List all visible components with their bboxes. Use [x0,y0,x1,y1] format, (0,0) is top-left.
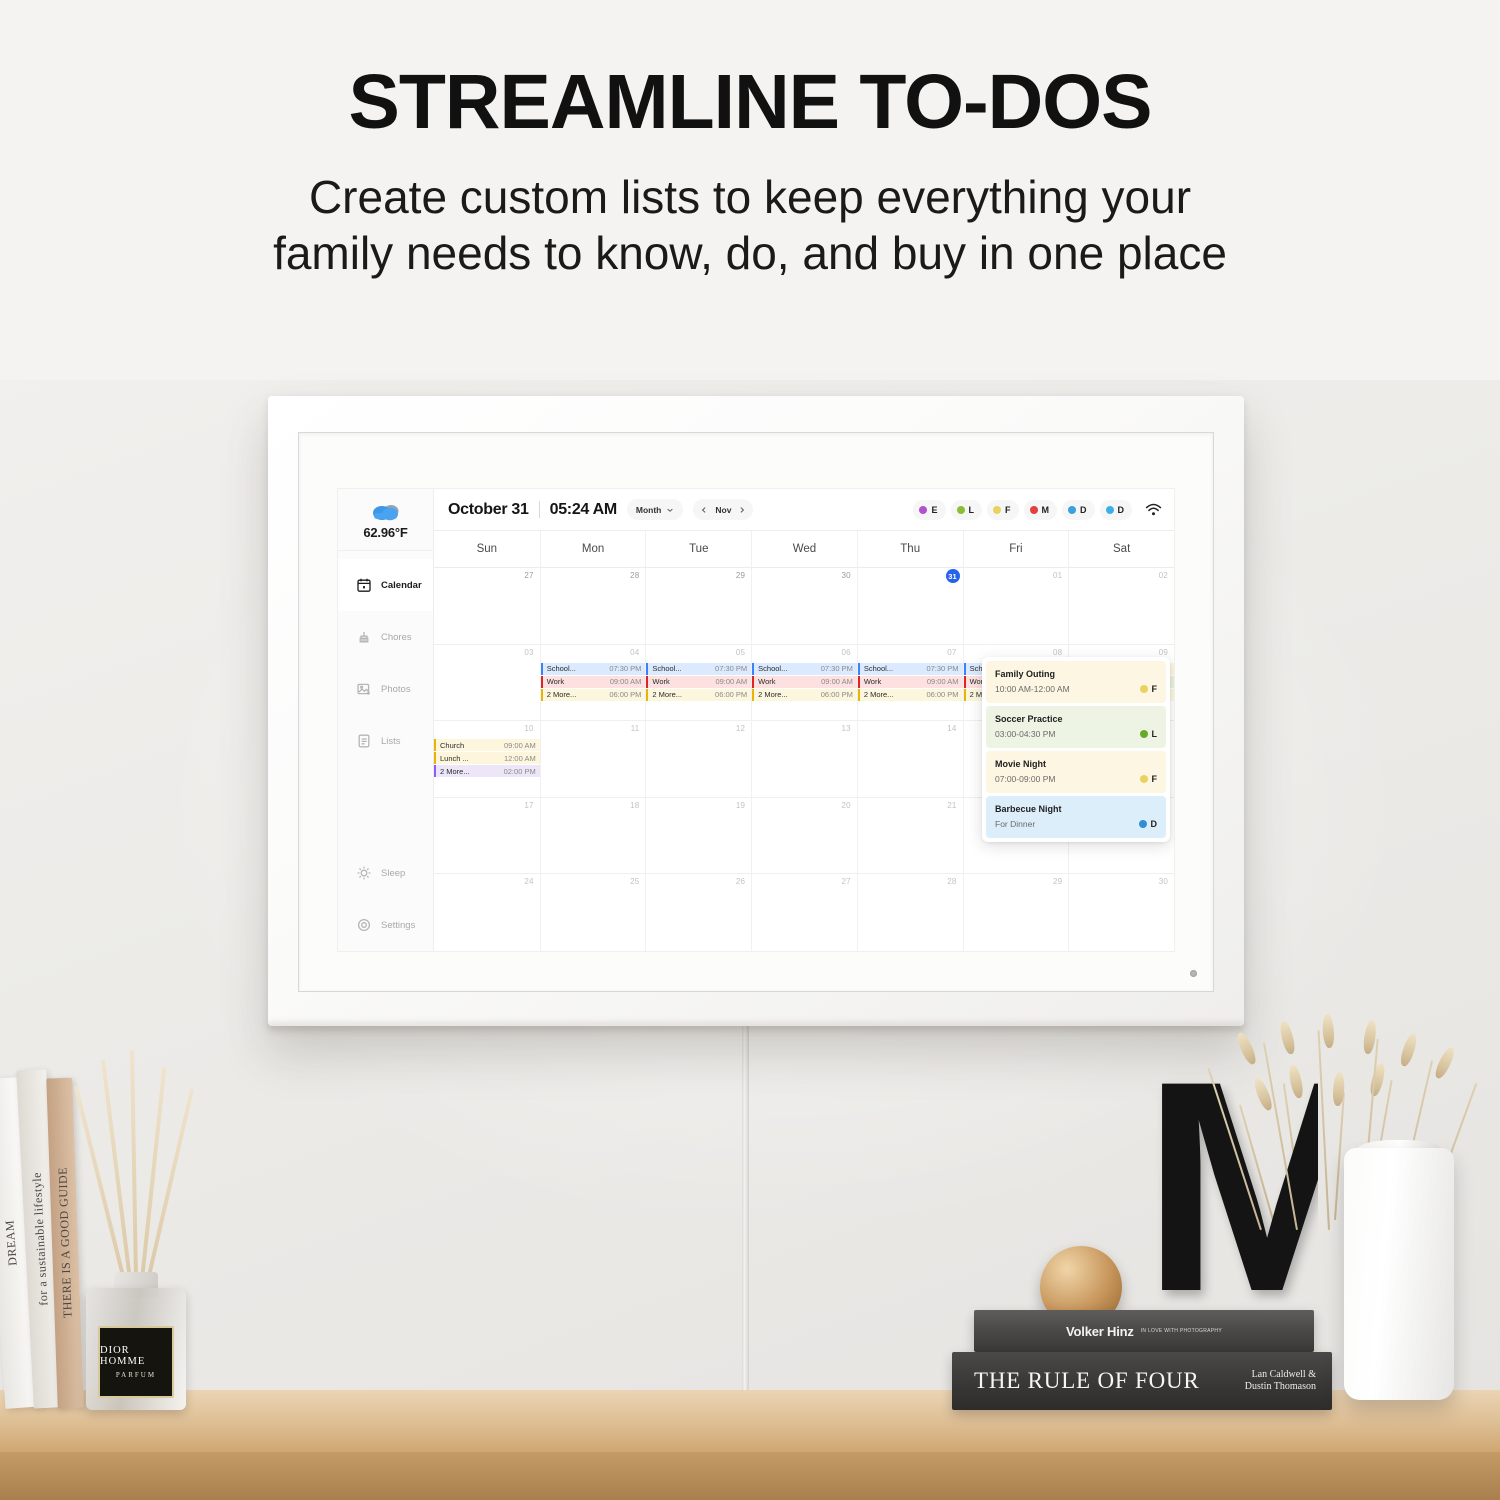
reed-diffuser: DIOR HOMME PARFUM [78,1230,196,1410]
event-title: 2 More... [543,690,607,699]
event-detail-time: For Dinner [995,819,1035,829]
event-detail-title: Family Outing [995,669,1157,679]
calendar-day-cell[interactable]: 14 [857,721,963,797]
event-title: Work [543,677,607,686]
day-number: 17 [524,801,533,810]
diffuser-label: DIOR HOMME PARFUM [98,1326,174,1398]
calendar-day-cell[interactable]: 20 [751,798,857,874]
chevron-right-icon[interactable] [738,506,746,514]
calendar-event[interactable]: School...07:30 PM [646,663,751,675]
event-detail-time: 03:00-04:30 PM [995,729,1055,739]
calendar-day-cell[interactable]: 11 [540,721,646,797]
promo-subtitle-line-1: Create custom lists to keep everything y… [273,169,1227,225]
day-number: 27 [524,571,533,580]
calendar-event[interactable]: School...07:30 PM [752,663,857,675]
event-detail-card[interactable]: Movie Night07:00-09:00 PMF [986,751,1166,793]
promo-subtitle: Create custom lists to keep everything y… [273,169,1227,281]
calendar-day-cell[interactable]: 27 [434,568,540,644]
event-detail-title: Barbecue Night [995,804,1157,814]
calendar-event[interactable]: 2 More...06:00 PM [646,689,751,701]
member-initial: D [1118,505,1125,515]
weekday-mon: Mon [540,531,646,567]
event-detail-row: For DinnerD [995,819,1157,829]
event-detail-card[interactable]: Soccer Practice03:00-04:30 PML [986,706,1166,748]
event-title: School... [860,664,924,673]
calendar-event[interactable]: Work09:00 AM [858,676,963,688]
sidebar-nav: Calendar Chores Photos [338,551,433,951]
member-color-dot [1140,730,1148,738]
member-color-dot [1106,506,1114,514]
event-title: Work [860,677,924,686]
sidebar-item-photos[interactable]: Photos [338,663,433,715]
day-number: 26 [736,877,745,886]
calendar-day-cell[interactable]: 10Church09:00 AMLunch ...12:00 AM2 More.… [434,721,540,797]
pampas-plume [1235,1031,1259,1067]
event-detail-member: F [1140,774,1158,784]
day-number: 14 [947,724,956,733]
view-selector-label: Month [636,505,662,515]
topbar-divider [539,501,540,518]
day-number: 27 [842,877,851,886]
day-number: 10 [524,724,533,733]
page-title: STREAMLINE TO-DOS [349,62,1152,143]
weekday-tue: Tue [645,531,751,567]
event-time: 09:00 AM [924,677,959,686]
diffuser-brand: DIOR HOMME [100,1345,172,1367]
member-color-dot [1068,506,1076,514]
event-detail-title: Soccer Practice [995,714,1157,724]
event-time: 06:00 PM [606,690,641,699]
member-initial: L [1152,729,1158,739]
calendar-week-row: 27282930310102 [434,568,1174,645]
calendar-event[interactable]: 2 More...06:00 PM [752,689,857,701]
member-chip-d2[interactable]: D [1100,500,1133,520]
calendar-week-row: 24252627282930 [434,874,1174,951]
event-title: School... [754,664,818,673]
event-detail-member: L [1140,729,1158,739]
calendar-icon [356,577,372,593]
smart-display-frame: 62.96°F Calendar Chores [268,396,1244,1026]
calendar-event[interactable]: School...07:30 PM [858,663,963,675]
day-number: 07 [947,648,956,657]
day-number: 11 [631,724,640,733]
calendar-day-cell[interactable]: 12 [645,721,751,797]
event-detail-row: 07:00-09:00 PMF [995,774,1157,784]
calendar-day-cell[interactable]: 30 [1068,874,1174,951]
member-initial: E [931,505,937,515]
weekday-sat: Sat [1068,531,1174,567]
list-icon [356,733,372,749]
member-initial: F [1005,505,1011,515]
day-number: 29 [1053,877,1062,886]
member-chip-d1[interactable]: D [1062,500,1095,520]
calendar-day-cell[interactable]: 06School...07:30 PMWork09:00 AM2 More...… [751,645,857,721]
wifi-icon[interactable] [1145,503,1162,517]
weekday-wed: Wed [751,531,857,567]
event-time: 07:30 PM [606,664,641,673]
pampas-stem [1318,1030,1330,1230]
day-event-list: School...07:30 PMWork09:00 AM2 More...06… [858,663,963,701]
calendar-day-cell[interactable]: 31 [857,568,963,644]
member-color-dot [993,506,1001,514]
pampas-plume [1398,1032,1419,1068]
gear-icon [356,917,372,933]
day-number: 03 [524,648,533,657]
day-number: 06 [842,648,851,657]
day-number: 13 [842,724,851,733]
book-subtitle-top: IN LOVE WITH PHOTOGRAPHY [1141,1328,1222,1334]
sidebar: 62.96°F Calendar Chores [338,489,434,951]
member-initial: D [1080,505,1087,515]
sidebar-item-label-calendar: Calendar [381,580,422,591]
calendar-day-cell[interactable]: 04School...07:30 PMWork09:00 AM2 More...… [540,645,646,721]
book-authors-bottom: Lan Caldwell & Dustin Thomason [1245,1369,1316,1394]
member-chip-e[interactable]: E [913,500,945,520]
calendar-day-cell[interactable]: 27 [751,874,857,951]
day-number: 20 [842,801,851,810]
member-color-dot [1030,506,1038,514]
sidebar-item-label-chores: Chores [381,632,412,643]
calendar-event[interactable]: Lunch ...12:00 AM [434,752,540,764]
cloud-icon [370,500,402,522]
day-number: 12 [736,724,745,733]
decor-vase [1344,1148,1454,1400]
member-initial: M [1042,505,1050,515]
weather-temperature: 62.96°F [363,525,407,540]
member-initial: D [1151,819,1158,829]
event-time: 07:30 PM [923,664,958,673]
day-number: 30 [842,571,851,580]
power-indicator-icon [1190,970,1197,977]
calendar-day-cell[interactable]: 30 [751,568,857,644]
event-time: 12:00 AM [501,754,536,763]
event-detail-time: 10:00 AM-12:00 AM [995,684,1070,694]
calendar-day-cell[interactable]: 25 [540,874,646,951]
member-chip-l[interactable]: L [951,500,983,520]
event-time: 09:00 AM [712,677,747,686]
calendar-event[interactable]: Work09:00 AM [752,676,857,688]
member-color-dot [919,506,927,514]
calendar-event[interactable]: Church09:00 AM [434,739,540,751]
event-title: 2 More... [754,690,818,699]
calendar-day-cell[interactable]: 03 [434,645,540,721]
diffuser-sub: PARFUM [116,1371,156,1379]
day-number: 02 [1159,571,1168,580]
day-number: 09 [1159,648,1168,657]
event-time: 06:00 PM [818,690,853,699]
book-volker-hinz: Volker Hinz IN LOVE WITH PHOTOGRAPHY [974,1310,1314,1352]
day-event-list: Church09:00 AMLunch ...12:00 AM2 More...… [434,739,540,777]
calendar-day-cell[interactable]: 28 [540,568,646,644]
member-initial: F [1152,774,1158,784]
member-chip-f[interactable]: F [987,500,1019,520]
day-number: 28 [947,877,956,886]
weekday-header: Sun Mon Tue Wed Thu Fri Sat [434,531,1174,568]
calendar-event[interactable]: Work09:00 AM [541,676,646,688]
book-title-top: Volker Hinz [1066,1324,1134,1339]
month-nav: Nov [693,499,753,520]
calendar-day-cell[interactable]: 05School...07:30 PMWork09:00 AM2 More...… [645,645,751,721]
day-number: 24 [524,877,533,886]
event-time: 06:00 PM [923,690,958,699]
weekday-fri: Fri [963,531,1069,567]
calendar-event[interactable]: 2 More...02:00 PM [434,765,540,777]
sidebar-item-lists[interactable]: Lists [338,715,433,767]
calendar-day-cell[interactable]: 24 [434,874,540,951]
power-cable [742,1018,749,1396]
sidebar-item-settings[interactable]: Settings [338,899,433,951]
sidebar-item-label-lists: Lists [381,736,401,747]
calendar-day-cell[interactable]: 21 [857,798,963,874]
chevron-down-icon [666,506,674,514]
calendar-day-cell[interactable]: 26 [645,874,751,951]
event-time: 07:30 PM [712,664,747,673]
calendar-event[interactable]: Work09:00 AM [646,676,751,688]
day-number: 19 [736,801,745,810]
member-initial: L [969,505,975,515]
event-title: Work [754,677,818,686]
topbar: October 31 05:24 AM Month Nov [434,489,1174,531]
sidebar-spacer [338,767,433,847]
calendar-day-cell[interactable]: 29 [645,568,751,644]
event-detail-panel: Family Outing10:00 AM-12:00 AMFSoccer Pr… [982,657,1170,842]
event-title: School... [648,664,712,673]
calendar-day-cell[interactable]: 13 [751,721,857,797]
sidebar-item-chores[interactable]: Chores [338,611,433,663]
book-spine-label-1: DREAM [2,1220,20,1267]
calendar-day-cell[interactable]: 28 [857,874,963,951]
event-detail-row: 10:00 AM-12:00 AMF [995,684,1157,694]
calendar-event[interactable]: 2 More...06:00 PM [858,689,963,701]
calendar-day-cell[interactable]: 19 [645,798,751,874]
day-number: 21 [947,801,956,810]
broom-icon [356,629,372,645]
calendar-day-cell[interactable]: 18 [540,798,646,874]
day-number: 01 [1053,571,1062,580]
sidebar-item-label-sleep: Sleep [381,868,405,879]
current-time: 05:24 AM [550,501,617,519]
event-time: 09:00 AM [607,677,642,686]
pampas-plume [1433,1045,1458,1080]
event-time: 06:00 PM [712,690,747,699]
event-time: 09:00 AM [818,677,853,686]
book-spine-label-2: for a sustainable lifestyle [29,1172,51,1306]
event-detail-card[interactable]: Family Outing10:00 AM-12:00 AMF [986,661,1166,703]
day-event-list: School...07:30 PMWork09:00 AM2 More...06… [541,663,646,701]
member-color-dot [1139,820,1147,828]
book-author-line-2: Dustin Thomason [1245,1381,1316,1392]
calendar-day-cell[interactable]: 01 [963,568,1069,644]
day-number: 04 [630,648,639,657]
event-title: 2 More... [436,767,501,776]
event-detail-time: 07:00-09:00 PM [995,774,1055,784]
event-title: Lunch ... [436,754,501,763]
desk-edge [0,1452,1500,1500]
chevron-left-icon[interactable] [700,506,708,514]
day-number: 28 [630,571,639,580]
photo-add-icon [356,681,372,697]
view-selector-dropdown[interactable]: Month [627,499,684,520]
calendar-event[interactable]: 2 More...06:00 PM [541,689,646,701]
right-book-stack: Volker Hinz IN LOVE WITH PHOTOGRAPHY THE… [952,1310,1332,1420]
day-number: 18 [630,801,639,810]
event-title: Church [436,741,501,750]
day-number: 05 [736,648,745,657]
weekday-thu: Thu [857,531,963,567]
main-content: October 31 05:24 AM Month Nov [434,489,1174,951]
book-author-line-1: Lan Caldwell & [1252,1369,1316,1380]
frame-mat: 62.96°F Calendar Chores [298,432,1214,992]
event-detail-member: D [1139,819,1158,829]
member-color-dot [957,506,965,514]
day-number: 30 [1159,877,1168,886]
pampas-stem [1263,1043,1298,1230]
book-rule-of-four: THE RULE OF FOUR Lan Caldwell & Dustin T… [952,1352,1332,1410]
event-time: 09:00 AM [501,741,536,750]
weekday-sun: Sun [434,531,540,567]
member-color-dot [1140,775,1148,783]
event-title: School... [543,664,607,673]
event-detail-row: 03:00-04:30 PML [995,729,1157,739]
member-chip-m[interactable]: M [1024,500,1058,520]
member-initial: F [1152,684,1158,694]
sidebar-item-label-settings: Settings [381,920,415,931]
event-detail-card[interactable]: Barbecue NightFor DinnerD [986,796,1166,838]
day-event-list: School...07:30 PMWork09:00 AM2 More...06… [646,663,751,701]
event-time: 02:00 PM [501,767,536,776]
event-title: 2 More... [860,690,924,699]
sidebar-item-label-photos: Photos [381,684,411,695]
book-title-bottom: THE RULE OF FOUR [974,1368,1200,1394]
day-number: 29 [736,571,745,580]
book-spine-label-3: THERE IS A GOOD GUIDE [55,1167,75,1319]
day-number-today: 31 [946,569,960,583]
calendar-event[interactable]: School...07:30 PM [541,663,646,675]
month-nav-label[interactable]: Nov [715,505,731,515]
app-screen: 62.96°F Calendar Chores [338,489,1174,951]
event-title: 2 More... [648,690,712,699]
weather-widget[interactable]: 62.96°F [338,489,433,551]
member-color-dot [1140,685,1148,693]
event-title: Work [648,677,712,686]
event-time: 07:30 PM [818,664,853,673]
calendar-day-cell[interactable]: 07School...07:30 PMWork09:00 AM2 More...… [857,645,963,721]
member-filter-list: E L F M [913,500,1162,520]
current-date: October 31 [448,501,529,519]
sidebar-item-sleep[interactable]: Sleep [338,847,433,899]
day-number: 25 [630,877,639,886]
pampas-plume [1278,1020,1297,1056]
pampas-stem [1208,1068,1262,1230]
day-number: 08 [1053,648,1062,657]
promo-subtitle-line-2: family needs to know, do, and buy in one… [273,225,1227,281]
sidebar-item-calendar[interactable]: Calendar [338,559,433,611]
calendar-day-cell[interactable]: 29 [963,874,1069,951]
event-detail-title: Movie Night [995,759,1157,769]
sun-icon [356,865,372,881]
calendar-day-cell[interactable]: 02 [1068,568,1174,644]
event-detail-member: F [1140,684,1158,694]
promo-header: STREAMLINE TO-DOS Create custom lists to… [0,0,1500,380]
day-event-list: School...07:30 PMWork09:00 AM2 More...06… [752,663,857,701]
calendar-day-cell[interactable]: 17 [434,798,540,874]
